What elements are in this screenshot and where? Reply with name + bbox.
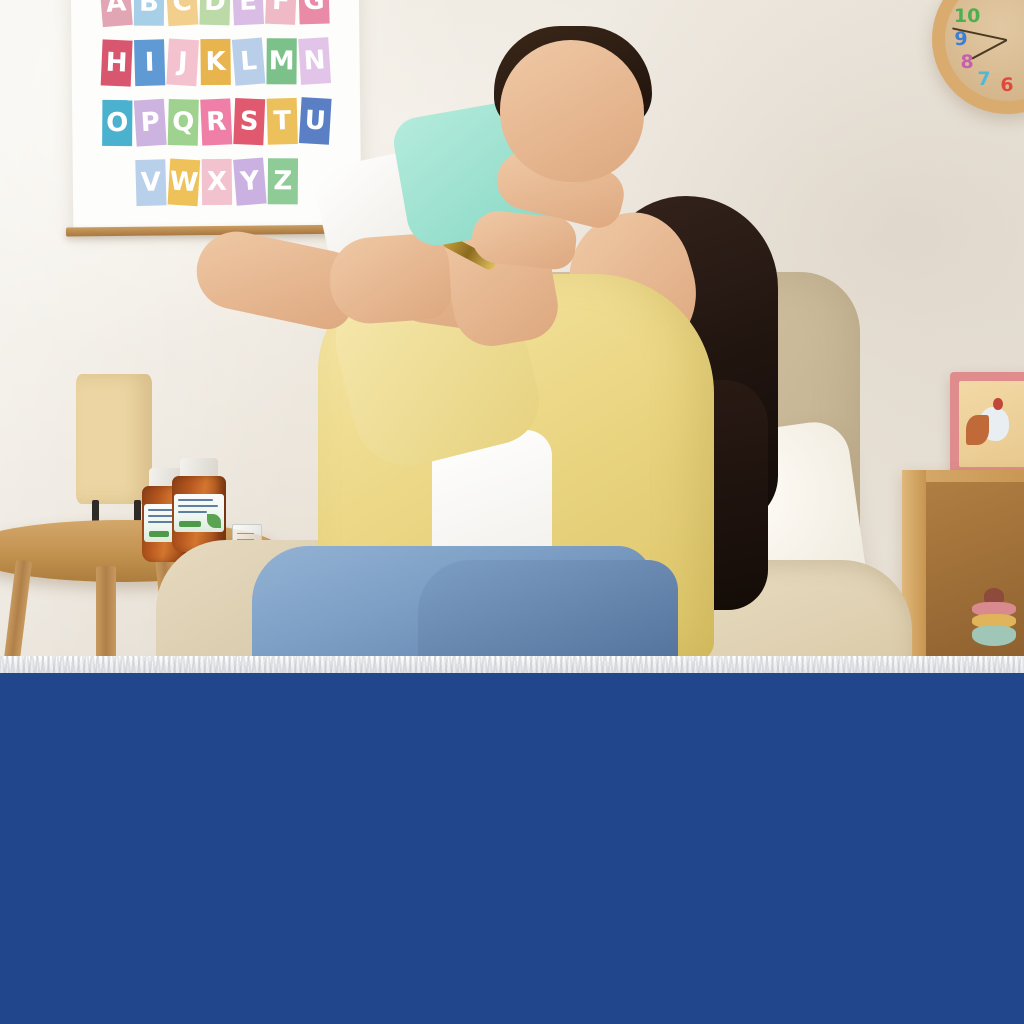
poster-letter-tile: O (102, 100, 132, 146)
poster-letter-tile: P (134, 99, 167, 147)
baby-leg (327, 232, 453, 326)
poster-letter-tile: F (265, 0, 297, 25)
claims-panel: None of the bad stuff. (0, 673, 1024, 1024)
picture-artwork (959, 381, 1024, 467)
rattan-lamp-shade (76, 374, 152, 504)
poster-letter-tile: V (135, 159, 166, 206)
poster-row: VWXYZ (81, 158, 353, 207)
lifestyle-photo: ABCDEFGHIJKLMNOPQRSTUVWXYZ 109876 (0, 0, 1024, 658)
mother-jeans (418, 560, 678, 658)
clock-number: 9 (954, 28, 967, 50)
poster-letter-tile: G (298, 0, 329, 24)
poster-row: OPQRSTU (80, 98, 352, 147)
clock-hour-hand (971, 39, 1007, 60)
poster-letter-tile: K (200, 39, 230, 85)
framed-picture (950, 372, 1024, 476)
marketing-graphic: ABCDEFGHIJKLMNOPQRSTUVWXYZ 109876 (0, 0, 1024, 1024)
poster-letter-tile: R (200, 98, 232, 145)
bottle-label (174, 494, 224, 532)
poster-letter-tile: B (134, 0, 164, 26)
poster-letter-tile: J (166, 38, 199, 86)
textured-divider (0, 656, 1024, 673)
poster-letter-tile: C (166, 0, 199, 26)
poster-letter-tile: S (233, 98, 265, 145)
poster-letter-tile: Q (168, 99, 199, 146)
poster-letter-tile: T (267, 98, 298, 145)
poster-letter-tile: H (101, 39, 133, 86)
poster-letter-tile: N (298, 37, 331, 85)
clock-number: 10 (954, 5, 980, 27)
baby-face (500, 40, 644, 182)
poster-letter-tile: E (232, 0, 264, 25)
leaf-icon (207, 514, 221, 528)
poster-letter-tile: U (299, 97, 332, 145)
poster-letter-tile: X (202, 159, 232, 205)
poster-letter-tile: W (168, 158, 201, 206)
side-table-leg (96, 566, 116, 658)
poster-letter-tile: M (266, 38, 296, 84)
poster-letter-tile: I (134, 39, 165, 86)
stacking-toy (972, 588, 1016, 650)
poster-row: ABCDEFG (79, 0, 351, 26)
poster-row: HIJKLMN (79, 38, 351, 87)
clock-face: 109876 (945, 0, 1024, 101)
clock-number: 7 (977, 68, 990, 90)
poster-letter-tile: A (99, 0, 133, 27)
poster-letter-tile: L (232, 38, 266, 86)
poster-letter-tile: D (199, 0, 230, 25)
clock-number: 8 (961, 51, 974, 73)
poster-letter-tile: Z (268, 158, 298, 204)
clock-number: 6 (1000, 74, 1013, 96)
poster-letter-tile: Y (233, 158, 267, 206)
